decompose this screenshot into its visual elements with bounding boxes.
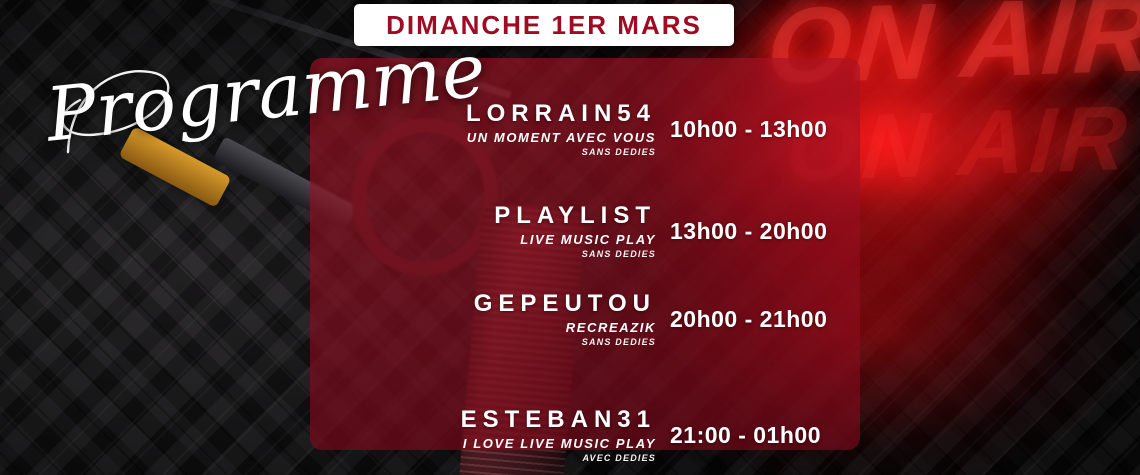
list-item: ESTEBAN31 I LOVE LIVE MUSIC PLAY AVEC DE…	[310, 396, 860, 474]
list-item: PLAYLIST LIVE MUSIC PLAY SANS DEDIES 13h…	[310, 192, 860, 270]
time-slot: 13h00 - 20h00	[670, 218, 860, 245]
show-name: RECREAZIK	[310, 320, 656, 335]
show-name: LIVE MUSIC PLAY	[310, 232, 656, 247]
dj-name: GEPEUTOU	[310, 291, 656, 316]
schedule-row-info: ESTEBAN31 I LOVE LIVE MUSIC PLAY AVEC DE…	[310, 407, 670, 462]
dedication-note: AVEC DEDIES	[310, 453, 656, 463]
radio-programme-banner: ON AIR ON AIR LORRAIN54 UN MOMENT AVEC V…	[0, 0, 1140, 475]
dj-name: PLAYLIST	[310, 203, 656, 228]
show-name: I LOVE LIVE MUSIC PLAY	[310, 436, 656, 451]
schedule-row-info: PLAYLIST LIVE MUSIC PLAY SANS DEDIES	[310, 203, 670, 258]
time-slot: 20h00 - 21h00	[670, 306, 860, 333]
schedule-row-info: GEPEUTOU RECREAZIK SANS DEDIES	[310, 291, 670, 346]
dj-name: ESTEBAN31	[310, 407, 656, 432]
list-item: GEPEUTOU RECREAZIK SANS DEDIES 20h00 - 2…	[310, 280, 860, 358]
dedication-note: SANS DEDIES	[310, 249, 656, 259]
time-slot: 21:00 - 01h00	[670, 422, 860, 449]
time-slot: 10h00 - 13h00	[670, 116, 860, 143]
dedication-note: SANS DEDIES	[310, 337, 656, 347]
